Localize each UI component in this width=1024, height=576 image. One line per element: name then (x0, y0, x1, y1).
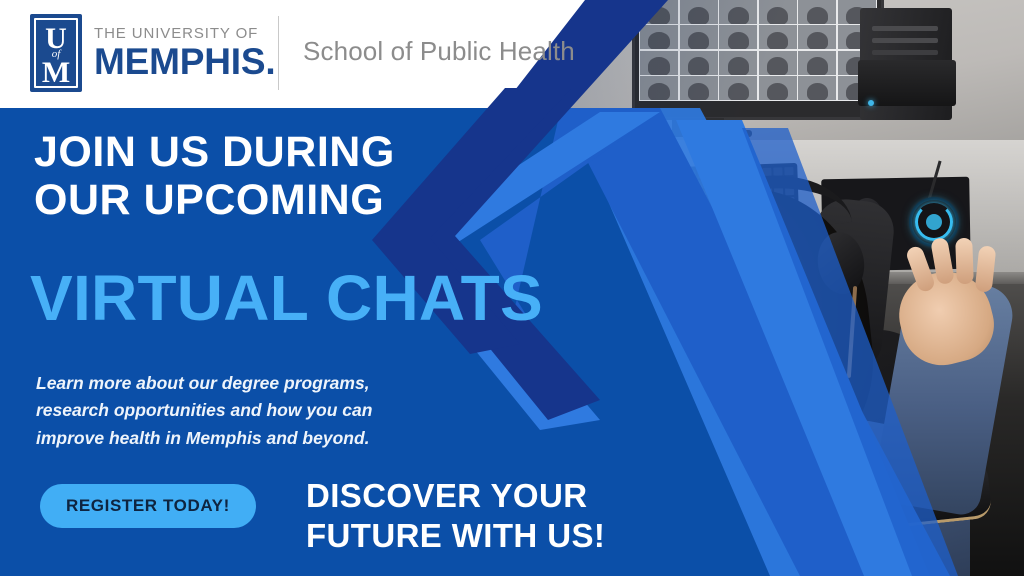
promo-banner: U of M THE UNIVERSITY OF MEMPHIS. School… (0, 0, 1024, 576)
university-logo[interactable]: U of M THE UNIVERSITY OF MEMPHIS. (30, 14, 275, 92)
header-divider (278, 16, 279, 90)
closing-tagline: DISCOVER YOUR FUTURE WITH US! (306, 476, 646, 555)
logo-line-university: THE UNIVERSITY OF (94, 26, 275, 43)
banner-content: JOIN US DURING OUR UPCOMING VIRTUAL CHAT… (0, 108, 560, 576)
um-logo-mark-icon: U of M (30, 14, 82, 92)
school-unit-name: School of Public Health (303, 36, 575, 67)
kicker-text: JOIN US DURING OUR UPCOMING (34, 128, 464, 224)
page-title: VIRTUAL CHATS (30, 266, 543, 330)
logo-wordmark: THE UNIVERSITY OF MEMPHIS. (94, 26, 275, 81)
description-text: Learn more about our degree programs, re… (36, 370, 440, 452)
logo-line-memphis: MEMPHIS. (94, 43, 275, 80)
logo-letter-m: M (42, 58, 70, 88)
register-today-button[interactable]: REGISTER TODAY! (40, 484, 256, 528)
